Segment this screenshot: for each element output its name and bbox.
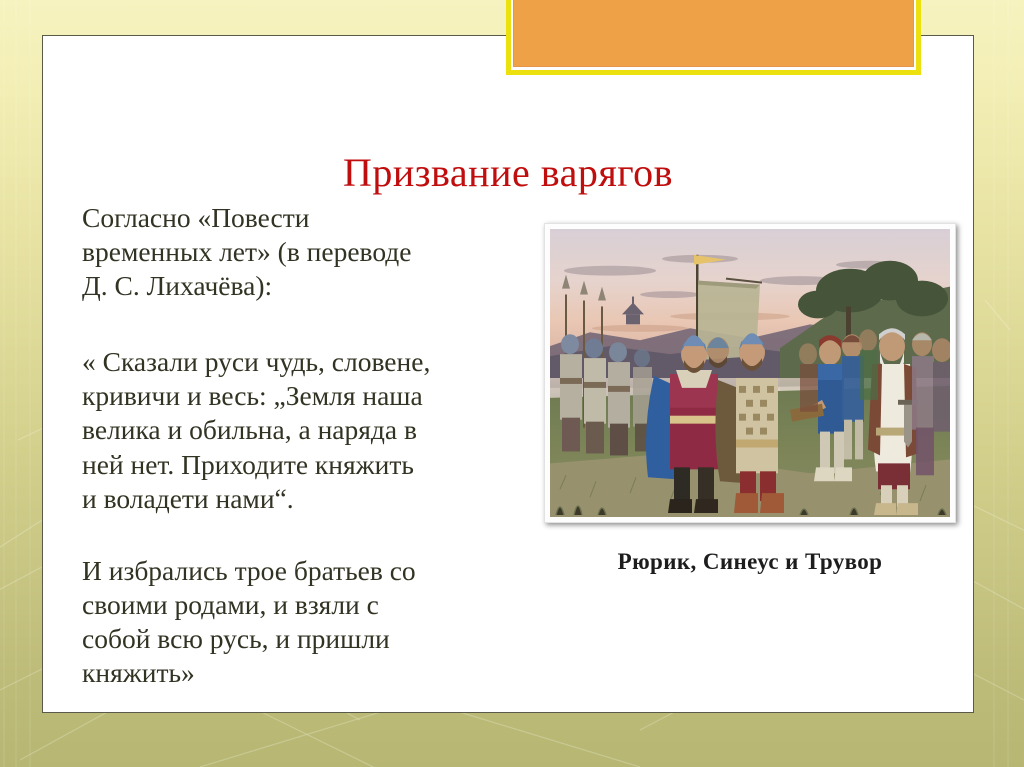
slide: Призвание варягов Согласно «Повести врем… (0, 0, 1024, 767)
paragraph-chronicle-quote: « Сказали руси чудь, словене, кривичи и … (82, 345, 542, 515)
figure-caption: Рюрик, Синеус и Трувор (544, 549, 956, 575)
body-text-column: Согласно «Повести временных лет» (в пере… (82, 201, 542, 690)
page-title: Призвание варягов (42, 151, 974, 195)
paragraph-brothers: И избрались трое братьев со своими родам… (82, 554, 542, 690)
painting-varangian-invitation-image (550, 229, 950, 517)
painting-frame (544, 223, 956, 523)
paragraph-source-attribution: Согласно «Повести временных лет» (в пере… (82, 201, 542, 303)
figure: Рюрик, Синеус и Трувор (544, 223, 956, 575)
header-accent-block (513, 0, 914, 67)
